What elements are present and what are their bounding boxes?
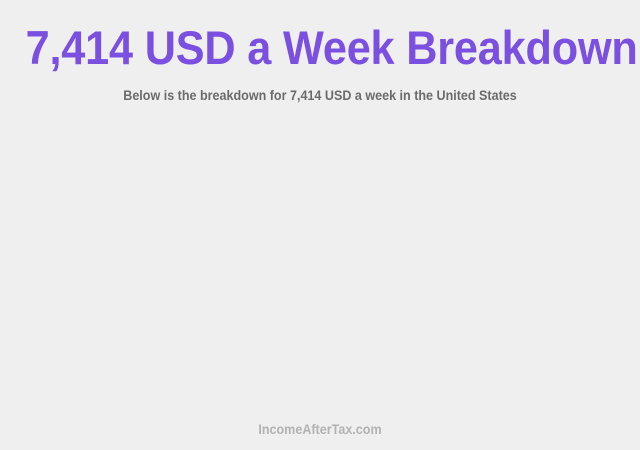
footer-site-name: IncomeAfterTax.com: [22, 421, 617, 438]
page-root: 7,414 USD a Week Breakdown Below is the …: [0, 0, 640, 450]
breakdown-content-area: [0, 120, 640, 405]
footer: IncomeAfterTax.com: [0, 421, 640, 438]
page-title: 7,414 USD a Week Breakdown: [26, 22, 615, 74]
page-subtitle: Below is the breakdown for 7,414 USD a w…: [22, 87, 617, 104]
